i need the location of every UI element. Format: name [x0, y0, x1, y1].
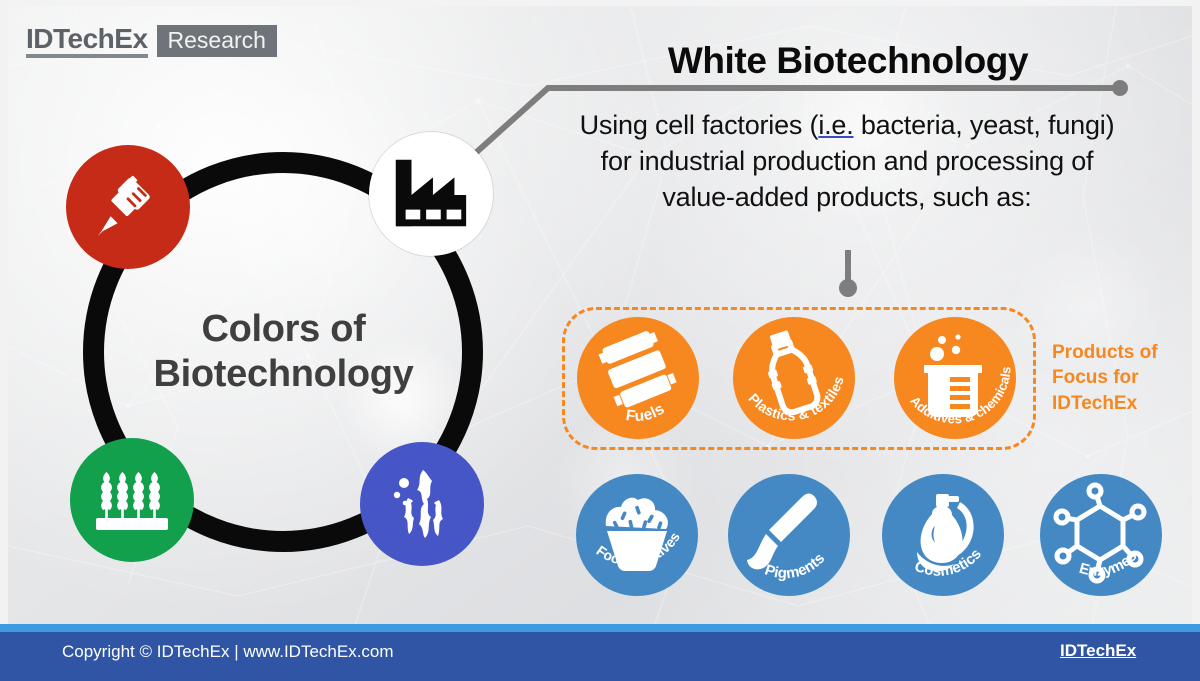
product-circle-cosmetics[interactable]: Cosmetics: [882, 474, 1004, 596]
svg-text:Enzymes: Enzymes: [1077, 548, 1140, 580]
enzymes-label: Enzymes: [1077, 548, 1140, 580]
fuels-arc-label: Fuels: [577, 317, 699, 439]
svg-text:Fuels: Fuels: [625, 400, 668, 425]
wheel-node-red-biotechnology[interactable]: [66, 145, 190, 269]
plastics-textiles-label: Plastics & textiles: [745, 374, 846, 423]
slide-frame-right: [1192, 0, 1200, 624]
enzymes-arc-label: Enzymes: [1040, 474, 1162, 596]
focus-label-line2: Focus for: [1052, 365, 1192, 390]
wheel-node-green-biotechnology[interactable]: [70, 438, 194, 562]
syringe-icon: [91, 170, 165, 244]
products-of-focus-label: Products of Focus for IDTechEx: [1052, 340, 1192, 416]
footer-copyright: Copyright © IDTechEx | www.IDTechEx.com: [62, 642, 394, 662]
product-circle-food-additives[interactable]: Food additives: [576, 474, 698, 596]
svg-text:Food additives: Food additives: [593, 529, 683, 569]
plastics-textiles-arc-label: Plastics & textiles: [733, 317, 855, 439]
wheel-title: Colors of Biotechnology: [119, 307, 449, 397]
product-circle-plastics-textiles[interactable]: Plastics & textiles: [733, 317, 855, 439]
colors-of-biotechnology-wheel: Colors of Biotechnology: [66, 132, 501, 572]
focus-label-line1: Products of: [1052, 340, 1192, 365]
svg-text:Plastics & textiles: Plastics & textiles: [745, 374, 846, 423]
description-part1: Using cell factories (: [580, 110, 819, 140]
wheel-title-line1: Colors of: [119, 307, 449, 352]
wheel-node-white-biotechnology[interactable]: [369, 132, 493, 256]
pigments-label: Pigments: [763, 550, 829, 582]
product-circle-pigments[interactable]: Pigments: [728, 474, 850, 596]
svg-text:Additives & chemicals: Additives & chemicals: [907, 366, 1013, 426]
food-additives-label: Food additives: [593, 529, 683, 569]
product-circle-fuels[interactable]: Fuels: [577, 317, 699, 439]
svg-text:Pigments: Pigments: [763, 550, 829, 582]
wheat-crops-icon: [92, 462, 172, 538]
wheel-node-blue-biotechnology[interactable]: [360, 442, 484, 566]
focus-label-line3: IDTechEx: [1052, 391, 1192, 416]
footer-idtechex-link[interactable]: IDTechEx: [1060, 641, 1136, 661]
cosmetics-arc-label: Cosmetics: [882, 474, 1004, 596]
wheel-title-line2: Biotechnology: [119, 352, 449, 397]
additives-chemicals-label: Additives & chemicals: [907, 366, 1013, 426]
additives-chemicals-arc-label: Additives & chemicals: [894, 317, 1016, 439]
description-emphasis: i.e.: [818, 110, 853, 140]
product-circle-enzymes[interactable]: Enzymes: [1040, 474, 1162, 596]
page-title: White Biotechnology: [588, 40, 1108, 82]
product-circle-additives-chemicals[interactable]: Additives & chemicals: [894, 317, 1016, 439]
idtechex-logo: IDTechEx Research: [26, 24, 277, 58]
slide-frame-left: [0, 0, 8, 624]
fuels-label: Fuels: [625, 400, 668, 425]
footer-accent-strip: [0, 624, 1200, 632]
slide-canvas: IDTechEx Research Colors of Biotechnolog…: [0, 0, 1200, 681]
seaweed-algae-icon: [382, 464, 462, 544]
logo-wordmark: IDTechEx: [26, 24, 148, 58]
logo-research-badge: Research: [157, 25, 277, 57]
description-text: Using cell factories (i.e. bacteria, yea…: [574, 108, 1120, 216]
svg-text:Cosmetics: Cosmetics: [912, 546, 985, 580]
food-additives-arc-label: Food additives: [576, 474, 698, 596]
slide-frame-top: [0, 0, 1200, 6]
factory-icon: [390, 155, 472, 233]
cosmetics-label: Cosmetics: [912, 546, 985, 580]
pigments-arc-label: Pigments: [728, 474, 850, 596]
